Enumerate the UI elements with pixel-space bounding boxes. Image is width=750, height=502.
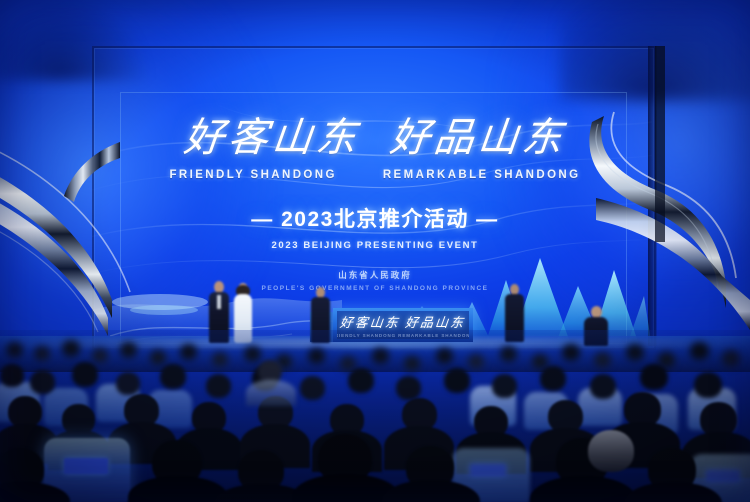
audience-area	[0, 330, 750, 502]
chair-back-label	[64, 458, 108, 474]
event-photo-stage: 好客山东 好品山东 FRIENDLY SHANDONG REMARKABLE S…	[0, 0, 750, 502]
backdrop-title-block: 好客山东 好品山东 FRIENDLY SHANDONG REMARKABLE S…	[0, 118, 750, 292]
slogan-en-left: FRIENDLY SHANDONG	[170, 169, 337, 181]
organizer-english: PEOPLE'S GOVERNMENT OF SHANDONG PROVINCE	[0, 285, 750, 292]
slogan-en-right: REMARKABLE SHANDONG	[383, 169, 581, 181]
slogan-english-row: FRIENDLY SHANDONG REMARKABLE SHANDONG	[0, 169, 750, 181]
slogan-chinese-row: 好客山东 好品山东	[0, 118, 750, 158]
event-title-chinese: — 2023北京推介活动 —	[0, 203, 750, 233]
slogan-cn-right: 好品山东	[388, 118, 568, 158]
slogan-cn-left: 好客山东	[182, 118, 362, 158]
organizer-chinese: 山东省人民政府	[0, 269, 750, 281]
event-title-english: 2023 BEIJING PRESENTING EVENT	[0, 240, 750, 251]
podium-slogan-chinese: 好客山东 好品山东	[339, 312, 466, 331]
